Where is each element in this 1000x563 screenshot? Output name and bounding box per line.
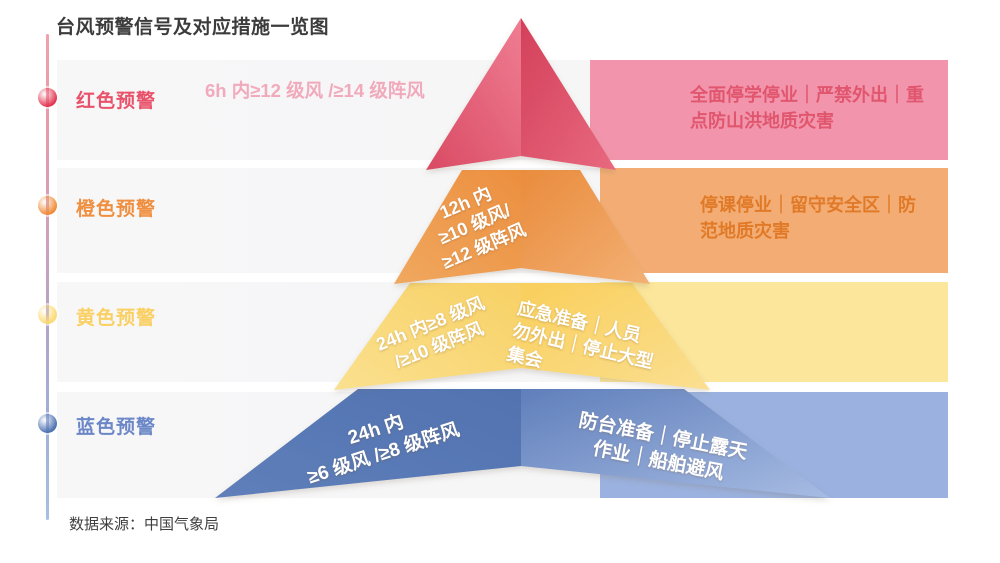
measures-text-orange: 停课停业｜留守安全区｜防范地质灾害 <box>700 192 932 244</box>
timeline-dot-red[interactable] <box>38 88 57 107</box>
timeline-dot-orange[interactable] <box>38 196 57 215</box>
timeline-dot-yellow[interactable] <box>38 305 57 324</box>
infographic-canvas: 台风预警信号及对应措施一览图 红色预警 橙色预警 黄色预警 蓝色预警 6h 内≥… <box>0 0 1000 563</box>
level-label-red: 红色预警 <box>76 86 156 113</box>
data-source-note: 数据来源：中国气象局 <box>69 513 219 534</box>
page-title: 台风预警信号及对应措施一览图 <box>56 12 329 39</box>
level-label-orange: 橙色预警 <box>76 194 156 221</box>
measures-text-red: 全面停学停业｜严禁外出｜重点防山洪地质灾害 <box>690 82 930 134</box>
criteria-text-red: 6h 内≥12 级风 /≥14 级阵风 <box>205 78 450 104</box>
level-label-yellow: 黄色预警 <box>76 303 156 330</box>
timeline-dot-blue[interactable] <box>38 414 57 433</box>
level-label-blue: 蓝色预警 <box>76 412 156 439</box>
